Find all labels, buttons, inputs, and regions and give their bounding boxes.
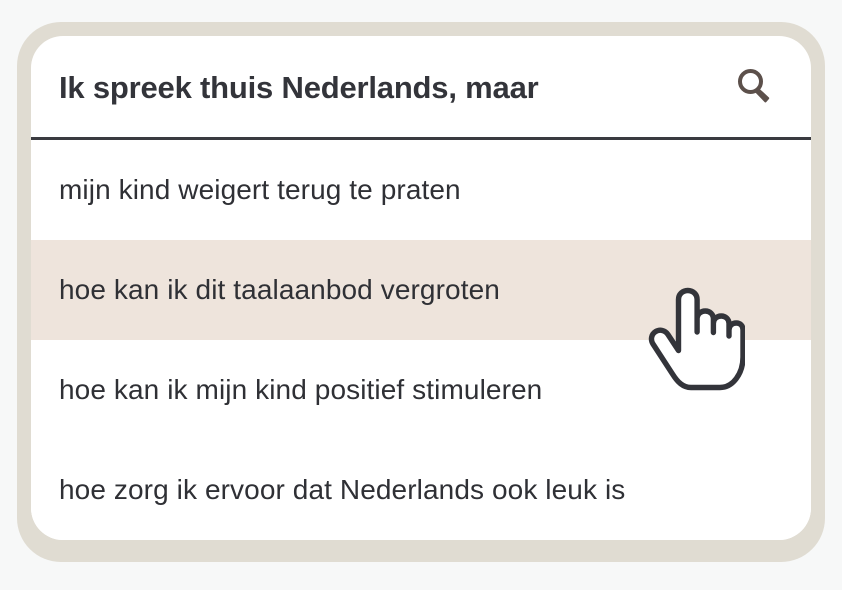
suggestion-row-1[interactable]: mijn kind weigert terug te praten [31,140,811,240]
suggestion-label: hoe kan ik mijn kind positief stimuleren [59,376,542,404]
suggestion-label: mijn kind weigert terug te praten [59,176,461,204]
suggestion-row-4[interactable]: hoe zorg ik ervoor dat Nederlands ook le… [31,440,811,540]
suggestion-list: mijn kind weigert terug te praten hoe ka… [31,140,811,540]
search-query-text[interactable]: Ik spreek thuis Nederlands, maar [59,72,735,103]
search-suggestions-card: Ik spreek thuis Nederlands, maar mijn ki… [31,36,811,540]
suggestion-label: hoe zorg ik ervoor dat Nederlands ook le… [59,476,625,504]
suggestion-row-3[interactable]: hoe kan ik mijn kind positief stimuleren [31,340,811,440]
suggestion-label: hoe kan ik dit taalaanbod vergroten [59,276,500,304]
search-field[interactable]: Ik spreek thuis Nederlands, maar [31,36,811,138]
suggestion-row-2[interactable]: hoe kan ik dit taalaanbod vergroten [31,240,811,340]
search-icon[interactable] [735,67,773,105]
